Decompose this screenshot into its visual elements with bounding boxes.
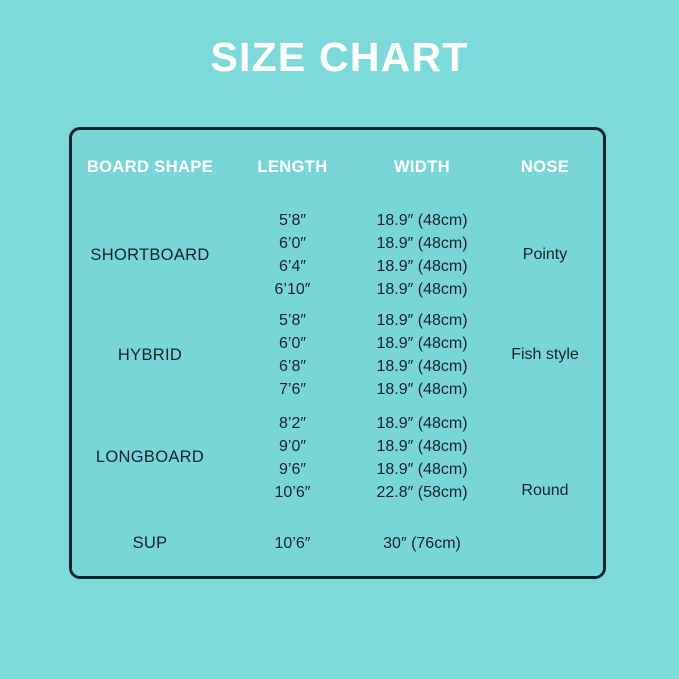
- width-value: 18.9″ (48cm): [357, 355, 487, 378]
- page-title: SIZE CHART: [0, 33, 679, 81]
- cell-width: 18.9″ (48cm) 18.9″ (48cm) 18.9″ (48cm) 1…: [357, 305, 487, 405]
- width-value: 18.9″ (48cm): [357, 332, 487, 355]
- width-value: 22.8″ (58cm): [357, 481, 487, 504]
- cell-board-shape: LONGBOARD: [72, 405, 228, 510]
- width-value: 30″ (76cm): [357, 532, 487, 555]
- length-value: 6’0″: [228, 232, 357, 255]
- length-value: 6’4″: [228, 255, 357, 278]
- width-list: 18.9″ (48cm) 18.9″ (48cm) 18.9″ (48cm) 1…: [357, 209, 487, 301]
- table-row: HYBRID 5’8″ 6’0″ 6’8″ 7’6″ 18.9″ (48cm) …: [72, 305, 603, 405]
- cell-nose: Pointy: [487, 205, 603, 305]
- length-list: 5’8″ 6’0″ 6’4″ 6’10″: [228, 209, 357, 301]
- cell-length: 8’2″ 9’0″ 9’6″ 10’6″: [228, 405, 357, 510]
- table-body: SHORTBOARD 5’8″ 6’0″ 6’4″ 6’10″ 18.9″ (4…: [72, 205, 603, 576]
- size-chart-table-container: BOARD SHAPE LENGTH WIDTH NOSE SHORTBOARD…: [69, 127, 606, 579]
- length-value: 5’8″: [228, 309, 357, 332]
- length-value: 10’6″: [228, 481, 357, 504]
- cell-board-shape: SUP: [72, 510, 228, 576]
- cell-width: 30″ (76cm): [357, 510, 487, 576]
- length-list: 10’6″: [228, 532, 357, 555]
- width-value: 18.9″ (48cm): [357, 278, 487, 301]
- width-value: 18.9″ (48cm): [357, 458, 487, 481]
- width-list: 18.9″ (48cm) 18.9″ (48cm) 18.9″ (48cm) 2…: [357, 412, 487, 504]
- length-value: 8’2″: [228, 412, 357, 435]
- cell-length: 5’8″ 6’0″ 6’4″ 6’10″: [228, 205, 357, 305]
- cell-length: 5’8″ 6’0″ 6’8″ 7’6″: [228, 305, 357, 405]
- length-list: 5’8″ 6’0″ 6’8″ 7’6″: [228, 309, 357, 401]
- width-value: 18.9″ (48cm): [357, 435, 487, 458]
- width-value: 18.9″ (48cm): [357, 255, 487, 278]
- length-list: 8’2″ 9’0″ 9’6″ 10’6″: [228, 412, 357, 504]
- cell-width: 18.9″ (48cm) 18.9″ (48cm) 18.9″ (48cm) 2…: [357, 405, 487, 510]
- cell-board-shape: SHORTBOARD: [72, 205, 228, 305]
- length-value: 9’0″: [228, 435, 357, 458]
- cell-board-shape: HYBRID: [72, 305, 228, 405]
- column-header-nose: NOSE: [487, 130, 603, 205]
- column-header-width: WIDTH: [357, 130, 487, 205]
- column-header-board-shape: BOARD SHAPE: [72, 130, 228, 205]
- size-chart-page: SIZE CHART BOARD SHAPE LENGTH WIDTH NOSE: [0, 0, 679, 679]
- cell-width: 18.9″ (48cm) 18.9″ (48cm) 18.9″ (48cm) 1…: [357, 205, 487, 305]
- table-header: BOARD SHAPE LENGTH WIDTH NOSE: [72, 130, 603, 205]
- size-chart-table: BOARD SHAPE LENGTH WIDTH NOSE SHORTBOARD…: [72, 130, 603, 576]
- cell-nose: Fish style: [487, 305, 603, 405]
- table-row: SHORTBOARD 5’8″ 6’0″ 6’4″ 6’10″ 18.9″ (4…: [72, 205, 603, 305]
- width-value: 18.9″ (48cm): [357, 309, 487, 332]
- width-list: 18.9″ (48cm) 18.9″ (48cm) 18.9″ (48cm) 1…: [357, 309, 487, 401]
- cell-length: 10’6″: [228, 510, 357, 576]
- width-value: 18.9″ (48cm): [357, 378, 487, 401]
- width-value: 18.9″ (48cm): [357, 209, 487, 232]
- column-header-length: LENGTH: [228, 130, 357, 205]
- length-value: 6’0″: [228, 332, 357, 355]
- length-value: 10’6″: [228, 532, 357, 555]
- width-value: 18.9″ (48cm): [357, 412, 487, 435]
- length-value: 7’6″: [228, 378, 357, 401]
- table-header-row: BOARD SHAPE LENGTH WIDTH NOSE: [72, 130, 603, 205]
- cell-nose: Round: [487, 405, 603, 576]
- table-row: LONGBOARD 8’2″ 9’0″ 9’6″ 10’6″ 18.9″ (48…: [72, 405, 603, 510]
- length-value: 9’6″: [228, 458, 357, 481]
- width-list: 30″ (76cm): [357, 532, 487, 555]
- width-value: 18.9″ (48cm): [357, 232, 487, 255]
- length-value: 6’10″: [228, 278, 357, 301]
- length-value: 6’8″: [228, 355, 357, 378]
- length-value: 5’8″: [228, 209, 357, 232]
